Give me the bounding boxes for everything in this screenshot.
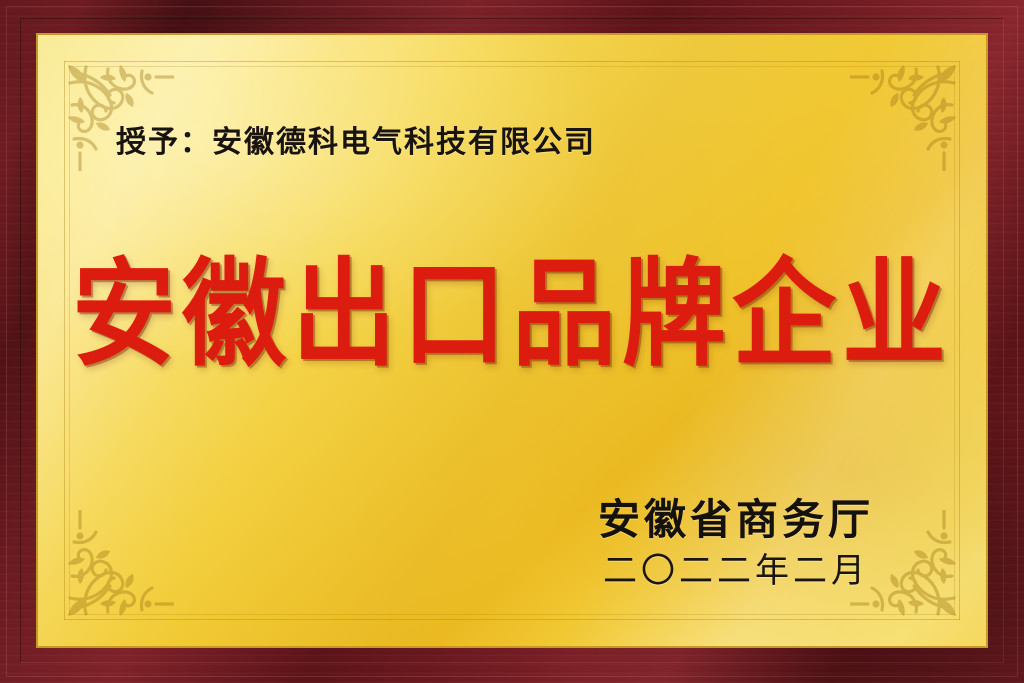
plaque-content: 授予：安徽德科电气科技有限公司 安徽出口品牌企业 安徽省商务厅 二〇二二年二月 [38, 35, 986, 646]
issuer-block: 安徽省商务厅 二〇二二年二月 [598, 498, 874, 590]
award-recipient-line: 授予：安徽德科电气科技有限公司 [116, 128, 596, 158]
issuing-authority-name: 安徽省商务厅 [598, 498, 874, 542]
issue-date: 二〇二二年二月 [598, 554, 874, 590]
award-plaque: 授予：安徽德科电气科技有限公司 安徽出口品牌企业 安徽省商务厅 二〇二二年二月 [0, 0, 1024, 683]
gold-plate: 授予：安徽德科电气科技有限公司 安徽出口品牌企业 安徽省商务厅 二〇二二年二月 [36, 33, 988, 648]
award-title: 安徽出口品牌企业 [38, 257, 986, 373]
